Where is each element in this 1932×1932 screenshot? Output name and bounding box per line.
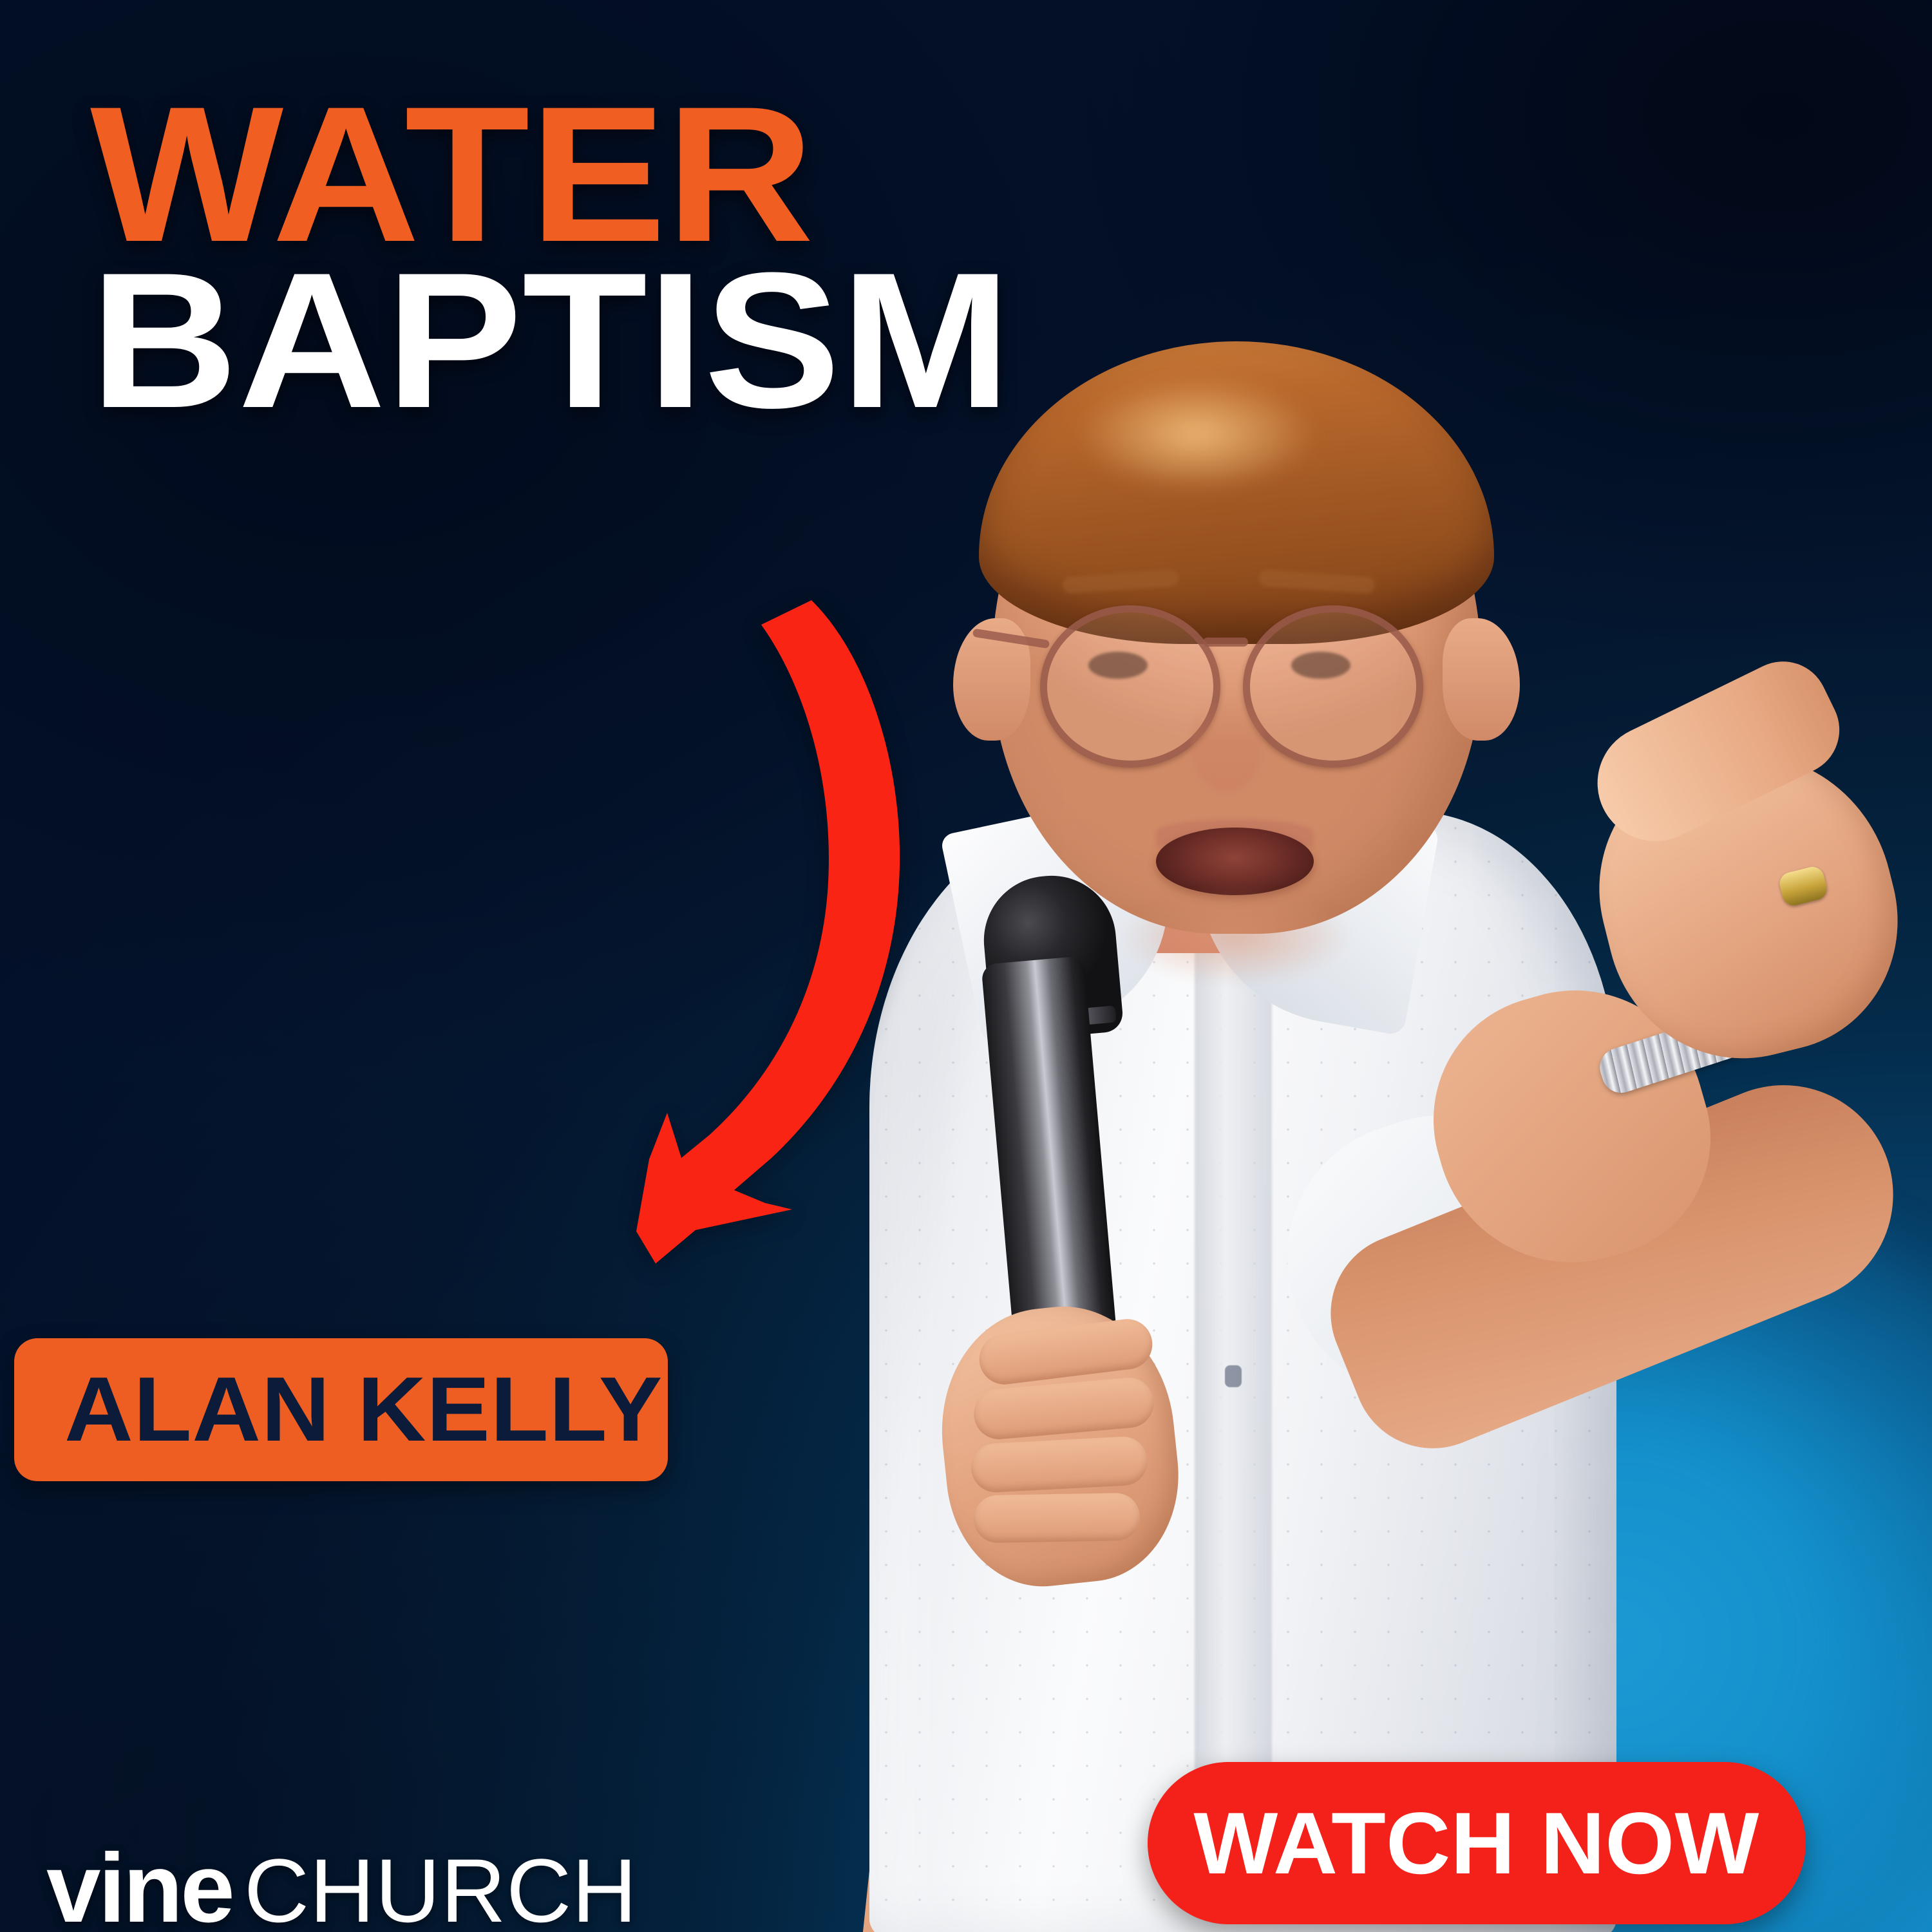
watch-now-label: WATCH NOW [1194,1793,1759,1893]
speaker-chin-shadow [1121,889,1352,985]
watch-now-button[interactable]: WATCH NOW [1148,1762,1806,1924]
speaker-nose [1191,696,1262,792]
mic-hand-finger-3 [970,1435,1149,1493]
speaker-ear-right [1443,618,1520,741]
vine-church-logo: vine CHURCH [46,1832,638,1932]
shirt-button [1225,1365,1242,1387]
speaker-name-badge: ALAN KELLY [14,1338,668,1481]
promo-poster: WATER BAPTISM ALAN KELLY vine CHURCH WAT… [0,0,1932,1932]
glasses-lens-right [1243,605,1423,768]
speaker-mouth [1156,828,1314,895]
mic-hand-finger-4 [973,1493,1140,1543]
poster-title: WATER BAPTISM [90,97,959,417]
red-curved-arrow-icon [599,580,998,1301]
logo-word-church: CHURCH [244,1839,638,1932]
hair-highlight [1063,380,1397,515]
logo-word-vine: vine [46,1832,232,1932]
speaker-name-label: ALAN KELLY [64,1357,663,1463]
title-line-baptism: BAPTISM [90,263,1011,417]
title-line-water: WATER [90,97,1011,251]
glasses-bridge [1203,638,1248,647]
